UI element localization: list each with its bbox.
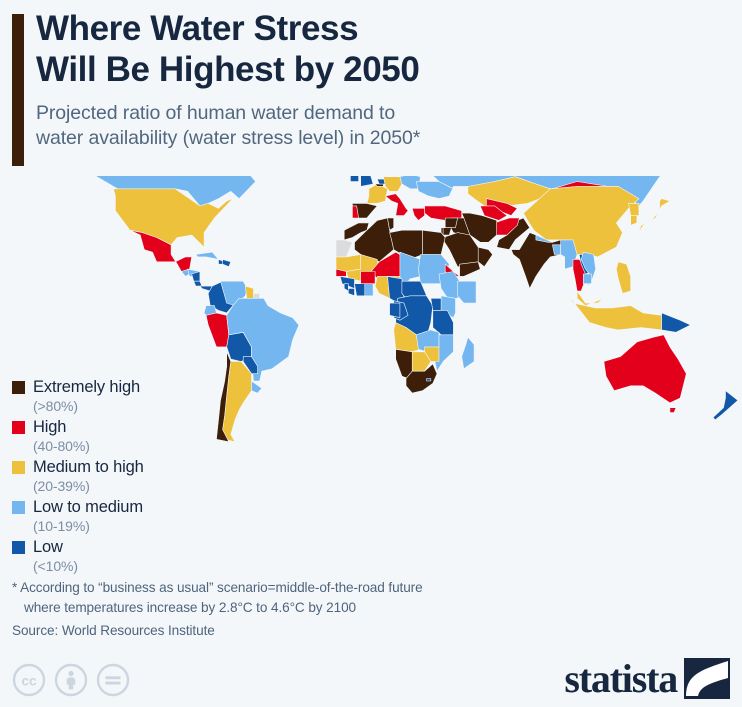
page-title: Where Water Stress Will Be Highest by 20… — [36, 8, 732, 91]
country-egypt[interactable] — [423, 230, 446, 254]
legend-item: High(40-80%) — [12, 418, 212, 453]
cc-by-person-icon[interactable] — [54, 663, 88, 697]
legend-item: Medium to high(20-39%) — [12, 458, 212, 493]
country-cambodia[interactable] — [583, 274, 591, 284]
legend-label: High — [33, 419, 66, 436]
legend-range: (>80%) — [33, 399, 212, 413]
country-gabon[interactable] — [390, 303, 400, 318]
country-lesotho[interactable] — [427, 379, 431, 382]
legend-swatch — [12, 501, 25, 514]
legend-range: (40-80%) — [33, 439, 212, 453]
country-burkina-faso[interactable] — [361, 272, 375, 284]
legend-range: (20-39%) — [33, 479, 212, 493]
source-text: Source: World Resources Institute — [12, 623, 215, 638]
header: Where Water Stress Will Be Highest by 20… — [36, 8, 732, 151]
footnote-line-2: where temperatures increase by 2.8°C to … — [12, 598, 612, 618]
map-legend: Extremely high(>80%)High(40-80%)Medium t… — [12, 378, 212, 578]
title-accent-bar — [12, 14, 24, 166]
legend-range: (<10%) — [33, 559, 212, 573]
infographic-root: Where Water Stress Will Be Highest by 20… — [0, 0, 742, 707]
cc-icon[interactable]: cc — [12, 663, 46, 697]
legend-label: Medium to high — [33, 459, 144, 476]
legend-label: Low to medium — [33, 499, 143, 516]
country-ivory-coast[interactable] — [355, 284, 365, 296]
legend-swatch — [12, 421, 25, 434]
legend-label: Low — [33, 539, 63, 556]
country-ireland[interactable] — [350, 176, 358, 182]
statista-logo[interactable]: statista — [564, 658, 730, 699]
creative-commons-icons[interactable]: cc — [12, 663, 130, 697]
legend-range: (10-19%) — [33, 519, 212, 533]
statista-wordmark: statista — [564, 659, 677, 699]
cc-nd-equals-icon[interactable] — [96, 663, 130, 697]
statista-mark-icon — [684, 658, 730, 699]
footnote: * According to “business as usual” scena… — [12, 578, 612, 617]
legend-swatch — [12, 381, 25, 394]
svg-text:cc: cc — [21, 674, 37, 689]
legend-item: Extremely high(>80%) — [12, 378, 212, 413]
page-subtitle: Projected ratio of human water demand to… — [36, 101, 732, 151]
legend-swatch — [12, 461, 25, 474]
country-north-korea[interactable] — [629, 203, 639, 215]
country-syria[interactable] — [445, 218, 457, 228]
legend-item: Low to medium(10-19%) — [12, 498, 212, 533]
footnote-line-1: * According to “business as usual” scena… — [12, 580, 423, 595]
legend-label: Extremely high — [33, 379, 140, 396]
legend-item: Low(<10%) — [12, 538, 212, 573]
country-mauritania[interactable] — [336, 255, 361, 272]
legend-swatch — [12, 541, 25, 554]
